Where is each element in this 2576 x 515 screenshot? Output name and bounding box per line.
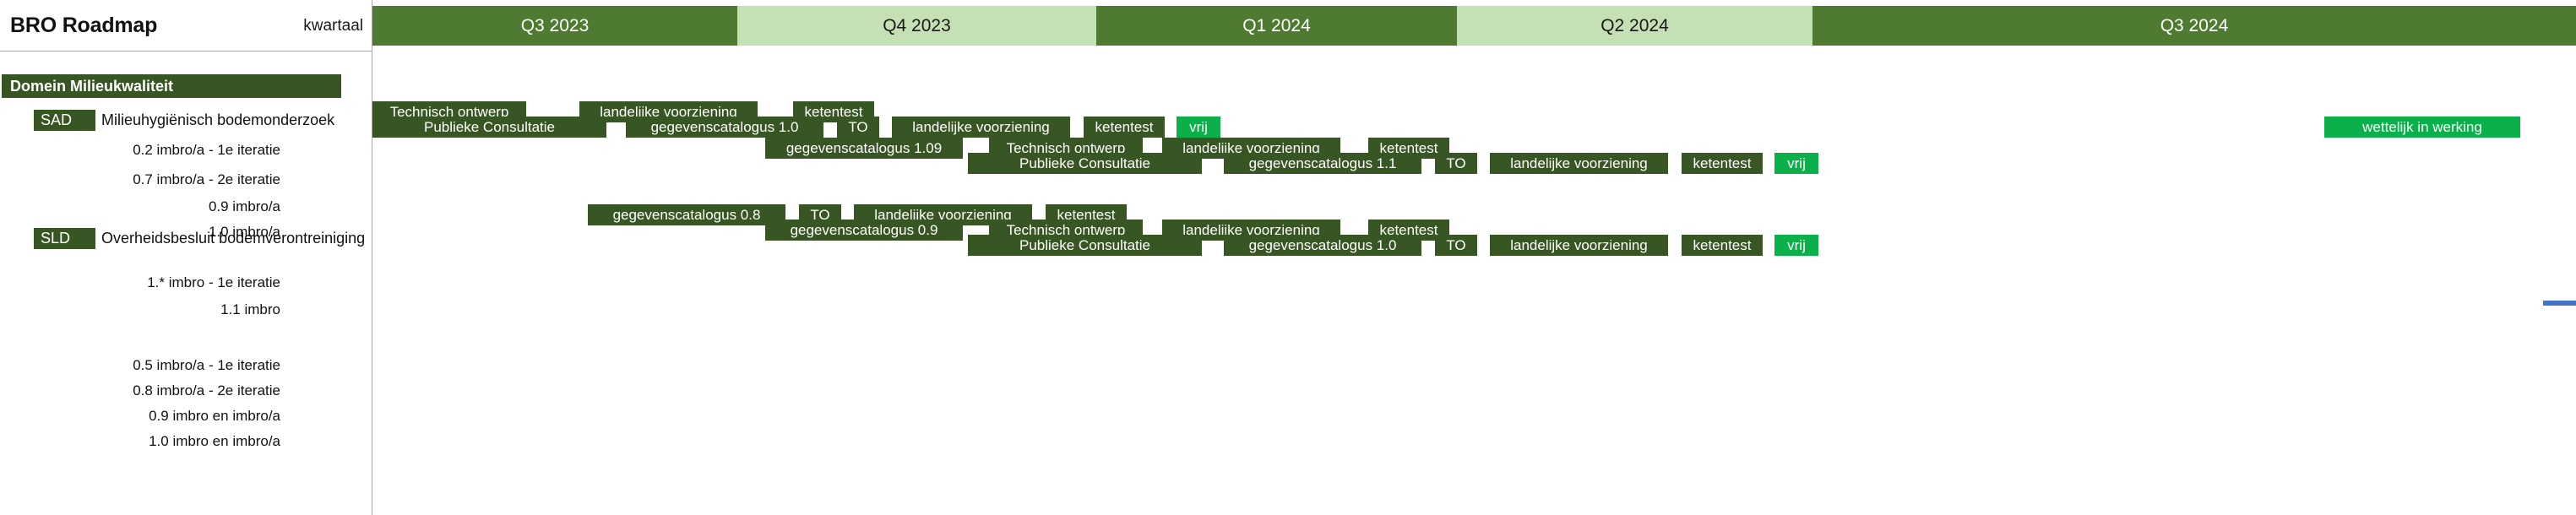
roadmap-task-bar[interactable]: ketentest xyxy=(1682,235,1763,256)
quarter-header-cell[interactable]: Q3 2024 xyxy=(1812,6,2576,46)
roadmap-task-bar[interactable]: ketentest xyxy=(1682,153,1763,174)
roadmap-task-bar[interactable]: gegevenscatalogus 0.9 xyxy=(765,220,963,241)
group-name-label: Milieuhygiënisch bodemonderzoek xyxy=(101,110,334,131)
roadmap-task-bar[interactable]: Publieke Consultatie xyxy=(968,235,1202,256)
roadmap-task-bar[interactable]: TO xyxy=(1435,153,1477,174)
sidebar-version-row[interactable]: 1.* imbro - 1e iteratie xyxy=(0,272,280,294)
sidebar: Domein Milieukwaliteit SADMilieuhygiënis… xyxy=(0,51,372,515)
timeline-quarter-header: Q3 2023Q4 2023Q1 2024Q2 2024Q3 2024 xyxy=(372,6,2576,46)
roadmap-task-bar[interactable]: gegevenscatalogus 1.0 xyxy=(626,117,823,138)
sidebar-version-row[interactable]: 0.9 imbro en imbro/a xyxy=(0,405,280,427)
quarter-label: Q4 2023 xyxy=(883,16,951,36)
domain-band: Domein Milieukwaliteit xyxy=(2,74,341,98)
group-code-badge: SAD xyxy=(34,110,95,131)
quarter-label: Q1 2024 xyxy=(1242,16,1311,36)
roadmap-task-bar[interactable]: landelijke voorziening xyxy=(1490,153,1668,174)
sidebar-version-row[interactable]: 0.9 imbro/a xyxy=(0,196,280,218)
roadmap-task-bar[interactable]: Publieke Consultatie xyxy=(372,117,606,138)
sidebar-version-row[interactable]: 0.5 imbro/a - 1e iteratie xyxy=(0,355,280,377)
roadmap-chart: Technisch ontwerplandelijke voorzieningk… xyxy=(372,51,2576,515)
domain-band-label: Domein Milieukwaliteit xyxy=(2,78,173,95)
continuation-arrow-icon xyxy=(2543,294,2576,312)
quarter-header-cell[interactable]: Q2 2024 xyxy=(1457,6,1812,46)
sidebar-version-row[interactable]: 0.2 imbro/a - 1e iteratie xyxy=(0,139,280,161)
roadmap-task-bar[interactable]: TO xyxy=(837,117,879,138)
sidebar-version-row[interactable]: 1.0 imbro en imbro/a xyxy=(0,431,280,453)
sidebar-version-row[interactable]: 1.1 imbro xyxy=(0,299,280,321)
roadmap-milestone-bar[interactable]: wettelijk in werking xyxy=(2324,117,2520,138)
roadmap-task-bar[interactable]: landelijke voorziening xyxy=(1490,235,1668,256)
roadmap-task-bar[interactable]: gegevenscatalogus 1.1 xyxy=(1224,153,1421,174)
quarter-label: Q2 2024 xyxy=(1600,16,1669,36)
roadmap-task-bar[interactable]: TO xyxy=(1435,235,1477,256)
roadmap-task-bar[interactable]: gegevenscatalogus 1.09 xyxy=(765,138,963,159)
sidebar-group-row[interactable]: SADMilieuhygiënisch bodemonderzoek xyxy=(0,108,372,132)
quarter-header-cell[interactable]: Q1 2024 xyxy=(1096,6,1457,46)
roadmap-task-bar[interactable]: ketentest xyxy=(1084,117,1165,138)
quarter-label: Q3 2023 xyxy=(521,16,590,36)
roadmap-milestone-bar[interactable]: vrij xyxy=(1774,153,1818,174)
roadmap-milestone-bar[interactable]: vrij xyxy=(1774,235,1818,256)
quarter-header-cell[interactable]: Q3 2023 xyxy=(372,6,737,46)
roadmap-milestone-bar[interactable]: vrij xyxy=(1177,117,1220,138)
roadmap-task-bar[interactable]: landelijke voorziening xyxy=(892,117,1070,138)
sidebar-version-row[interactable]: 0.7 imbro/a - 2e iteratie xyxy=(0,169,280,191)
title-bar: BRO Roadmap kwartaal xyxy=(0,0,372,51)
quarter-label: Q3 2024 xyxy=(2160,16,2229,36)
sidebar-version-row[interactable]: 0.8 imbro/a - 2e iteratie xyxy=(0,380,280,402)
roadmap-task-bar[interactable]: Publieke Consultatie xyxy=(968,153,1202,174)
quarter-header-cell[interactable]: Q4 2023 xyxy=(737,6,1096,46)
sidebar-version-row[interactable]: 1.0 imbro/a xyxy=(0,221,280,243)
page-title: BRO Roadmap xyxy=(10,14,157,38)
roadmap-task-bar[interactable]: gegevenscatalogus 1.0 xyxy=(1224,235,1421,256)
timescale-label: kwartaal xyxy=(279,17,363,35)
roadmap-task-bar[interactable]: gegevenscatalogus 0.8 xyxy=(588,204,785,225)
